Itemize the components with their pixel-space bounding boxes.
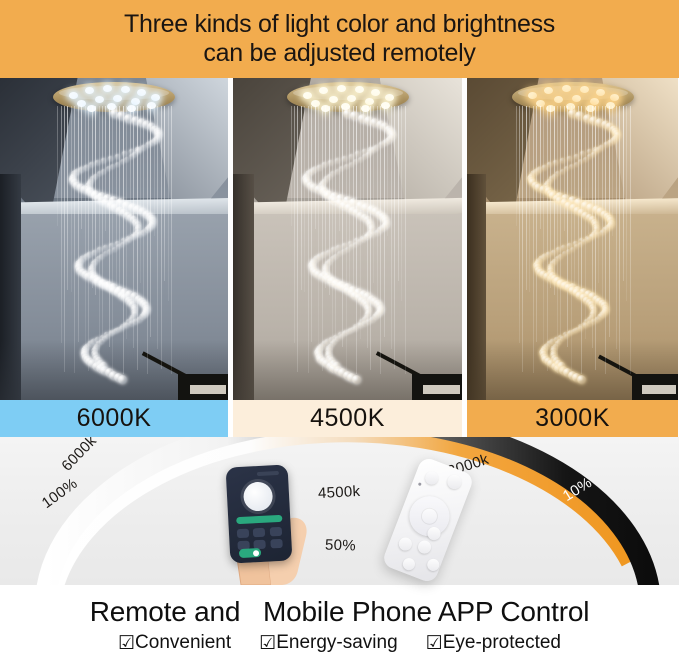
arc-label-4500k: 4500k <box>318 483 361 502</box>
crystal-strand <box>78 106 79 342</box>
chandelier-panel-4500k <box>233 78 462 400</box>
led-bulb <box>69 92 78 99</box>
crystal-strand <box>311 106 312 342</box>
footer-title-part-2: Mobile Phone APP Control <box>263 596 589 627</box>
crystal-strand <box>294 106 295 343</box>
feature-label: Convenient <box>135 632 231 654</box>
crystal-strand <box>595 106 596 370</box>
crystal-strand <box>335 106 336 340</box>
label-6000k: 6000K <box>0 400 228 437</box>
crystal-strand <box>567 106 568 347</box>
led-bulb <box>554 96 563 103</box>
crystal-strand <box>557 106 558 373</box>
led-bulb <box>528 92 537 99</box>
crystal-strand <box>109 106 110 347</box>
led-bulb <box>337 85 346 92</box>
crystal-strand <box>630 106 631 374</box>
crystal-strand <box>526 106 527 290</box>
check-icon: ☑ <box>259 632 276 655</box>
crystal-bead <box>108 155 114 161</box>
app-brightness-dial[interactable] <box>243 481 273 511</box>
feature-eye-protected: ☑ Eye-protected <box>426 632 561 655</box>
remote-indicator-dot <box>418 482 422 486</box>
color-temperature-label-row: 6000K 4500K 3000K <box>0 400 679 437</box>
crystal-bead <box>353 242 358 247</box>
crystal-strand <box>519 106 520 343</box>
crystal-strand <box>547 106 548 371</box>
crystal-bead <box>577 375 586 384</box>
crystal-strand <box>377 106 378 299</box>
remote-key-power[interactable] <box>423 470 440 487</box>
crystal-bead <box>115 153 121 159</box>
crystal-strand <box>74 106 75 373</box>
crystal-strand-group <box>49 106 179 392</box>
crystal-bead <box>578 159 583 164</box>
crystal-strand <box>304 106 305 292</box>
crystal-chandelier <box>498 82 648 392</box>
control-arcs <box>0 437 679 585</box>
crystal-chandelier <box>273 82 423 392</box>
crystal-strand <box>398 106 399 281</box>
crystal-strand <box>71 106 72 292</box>
crystal-strand <box>342 106 343 347</box>
feature-label: Eye-protected <box>443 632 561 654</box>
led-bulb <box>121 86 130 93</box>
crystal-strand <box>57 106 58 226</box>
crystal-strand <box>401 106 402 301</box>
crystal-strand <box>102 106 103 340</box>
label-3000k: 3000K <box>467 400 678 437</box>
crystal-strand <box>64 106 65 372</box>
furniture-highlight <box>423 385 460 394</box>
led-bulb <box>303 92 312 99</box>
crystal-bead <box>335 169 340 174</box>
crystal-strand <box>318 106 319 345</box>
app-slider[interactable] <box>236 515 282 524</box>
crystal-strand <box>88 106 89 371</box>
crystal-strand <box>140 106 141 283</box>
crystal-bead <box>560 169 565 174</box>
remote-key-scene-1[interactable] <box>397 536 414 553</box>
control-illustration-panel: 6000k 100% 4500k 50% 3000k 10% <box>0 437 679 585</box>
crystal-bead <box>559 158 565 164</box>
led-bulb <box>590 98 599 105</box>
header-line-2: can be adjusted remotely <box>203 39 475 68</box>
led-bulb <box>580 86 589 93</box>
crystal-chandelier <box>39 82 189 392</box>
crystal-bead <box>349 162 354 167</box>
crystal-strand <box>301 106 302 290</box>
crystal-bead <box>322 162 328 168</box>
crystal-bead <box>547 162 553 168</box>
crystal-strand <box>168 106 169 301</box>
header-line-1: Three kinds of light color and brightnes… <box>124 10 555 39</box>
crystal-strand <box>598 106 599 283</box>
crystal-bead <box>358 157 363 162</box>
led-bulb <box>85 87 94 94</box>
led-bulb <box>103 85 112 92</box>
crystal-strand <box>619 106 620 369</box>
crystal-strand <box>164 106 165 281</box>
crystal-bead <box>334 158 340 164</box>
header-banner: Three kinds of light color and brightnes… <box>0 0 679 78</box>
crystal-bead <box>583 157 588 162</box>
remote-key-timer[interactable] <box>426 557 442 573</box>
footer-section: Remote and Mobile Phone APP Control ☑ Co… <box>0 585 679 665</box>
feature-list: ☑ Convenient ☑ Energy-saving ☑ Eye-prote… <box>118 632 561 655</box>
remote-key-scene-2[interactable] <box>416 539 433 556</box>
led-bulb <box>596 89 605 96</box>
crystal-bead <box>115 162 120 167</box>
crystal-strand <box>322 106 323 371</box>
chandelier-panel-row <box>0 78 679 400</box>
crystal-strand <box>543 106 544 345</box>
crystal-strand <box>332 106 333 373</box>
label-4500k: 4500K <box>233 400 462 437</box>
crystal-bead <box>573 153 579 159</box>
crystal-strand <box>536 106 537 342</box>
crystal-strand <box>560 106 561 340</box>
crystal-strand <box>623 106 624 281</box>
led-bulb <box>95 96 104 103</box>
feature-label: Energy-saving <box>276 632 397 654</box>
crystal-strand <box>143 106 144 299</box>
crystal-bead <box>120 159 125 164</box>
app-power-toggle[interactable] <box>239 548 261 558</box>
crystal-bead <box>99 362 107 370</box>
crystal-strand <box>626 106 627 301</box>
mobile-phone-app[interactable] <box>226 464 293 563</box>
crystal-strand <box>67 106 68 290</box>
arc-label-50-percent: 50% <box>325 536 357 554</box>
led-bulb <box>113 95 122 102</box>
crystal-bead <box>111 246 116 251</box>
crystal-strand <box>516 106 517 226</box>
led-bulb <box>319 87 328 94</box>
crystal-strand <box>308 106 309 373</box>
crystal-strand <box>99 106 100 373</box>
check-icon: ☑ <box>118 632 135 655</box>
app-key-grid[interactable] <box>237 527 284 550</box>
crystal-strand <box>85 106 86 345</box>
led-bulb <box>365 98 374 105</box>
crystal-bead <box>569 164 574 169</box>
crystal-strand <box>394 106 395 369</box>
crystal-bead <box>566 155 572 161</box>
chandelier-panel-3000k <box>467 78 678 400</box>
crystal-strand <box>171 106 172 374</box>
chandelier-panel-6000k <box>0 78 228 400</box>
crystal-bead <box>110 164 115 169</box>
crystal-strand <box>529 106 530 292</box>
led-bulb <box>385 94 394 101</box>
crystal-strand <box>602 106 603 299</box>
crystal-strand-group <box>283 106 413 392</box>
furniture-highlight <box>190 385 226 394</box>
crystal-strand <box>405 106 406 374</box>
footer-title: Remote and Mobile Phone APP Control <box>90 596 590 628</box>
feature-energy-saving: ☑ Energy-saving <box>259 632 398 655</box>
led-bulb <box>137 89 146 96</box>
led-bulb <box>544 87 553 94</box>
led-bulb <box>610 94 619 101</box>
footer-title-part-1: Remote and <box>90 596 241 627</box>
app-key[interactable] <box>253 528 265 538</box>
crystal-bead <box>118 375 127 384</box>
crystal-strand <box>373 106 374 283</box>
crystal-strand <box>533 106 534 373</box>
feature-convenient: ☑ Convenient <box>118 632 231 655</box>
crystal-bead <box>578 242 583 247</box>
check-icon: ☑ <box>426 632 443 655</box>
led-bulb <box>347 95 356 102</box>
crystal-strand <box>161 106 162 369</box>
led-bulb <box>562 85 571 92</box>
led-bulb <box>131 98 140 105</box>
crystal-strand <box>61 106 62 343</box>
crystal-bead <box>94 160 100 166</box>
crystal-strand-group <box>508 106 638 392</box>
led-bulb <box>329 96 338 103</box>
remote-key-night[interactable] <box>401 556 417 572</box>
led-bulb <box>572 95 581 102</box>
crystal-strand <box>522 106 523 372</box>
crystal-bead <box>92 249 98 255</box>
crystal-bead <box>574 162 579 167</box>
crystal-strand <box>297 106 298 372</box>
brightness-arc <box>45 437 650 585</box>
app-key[interactable] <box>269 527 281 537</box>
crystal-bead <box>352 375 361 384</box>
led-bulb <box>355 86 364 93</box>
app-key[interactable] <box>270 539 282 549</box>
crystal-bead <box>348 153 354 159</box>
crystal-strand <box>370 106 371 370</box>
crystal-bead <box>106 166 111 171</box>
crystal-bead <box>341 155 347 161</box>
app-key[interactable] <box>237 529 249 539</box>
crystal-bead <box>353 159 358 164</box>
led-bulb <box>151 94 160 101</box>
led-bulb <box>371 89 380 96</box>
crystal-strand <box>291 106 292 226</box>
remote-key-mode[interactable] <box>445 473 463 491</box>
phone-speaker <box>257 471 279 476</box>
crystal-bead <box>344 164 349 169</box>
